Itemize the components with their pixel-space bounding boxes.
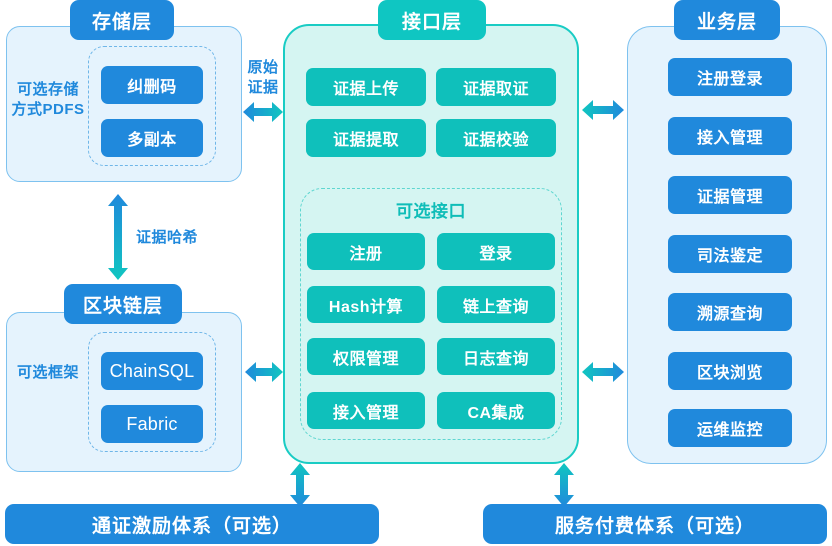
blockchain-item-fabric[interactable]: Fabric <box>101 405 203 443</box>
double-arrow-horizontal-icon-blockchain-interface <box>245 359 283 385</box>
interface-item-evidence-forensics[interactable]: 证据取证 <box>436 68 556 106</box>
bottom-bar-token-incentive[interactable]: 通证激励体系（可选） <box>5 504 379 544</box>
interface-optional-item-access-mgmt[interactable]: 接入管理 <box>307 392 425 429</box>
storage-item-multi-replica[interactable]: 多副本 <box>101 119 203 157</box>
connector-evidence-hash-label: 证据哈希 <box>136 228 246 248</box>
business-item-block-explorer[interactable]: 区块浏览 <box>668 352 792 390</box>
business-item-access-mgmt[interactable]: 接入管理 <box>668 117 792 155</box>
interface-optional-group-title: 可选接口 <box>300 201 562 224</box>
interface-optional-item-onchain-query[interactable]: 链上查询 <box>437 286 555 323</box>
storage-side-caption-line2: 方式PDFS <box>6 100 90 120</box>
interface-layer-title: 接口层 <box>378 0 486 40</box>
interface-optional-item-register[interactable]: 注册 <box>307 233 425 270</box>
blockchain-layer-title: 区块链层 <box>64 284 182 324</box>
interface-optional-item-log-query[interactable]: 日志查询 <box>437 338 555 375</box>
interface-optional-item-hash-compute[interactable]: Hash计算 <box>307 286 425 323</box>
bottom-bar-service-payment[interactable]: 服务付费体系（可选） <box>483 504 827 544</box>
double-arrow-vertical-icon-interface-payment <box>551 463 577 507</box>
business-item-evidence-mgmt[interactable]: 证据管理 <box>668 176 792 214</box>
storage-layer-title: 存储层 <box>70 0 174 40</box>
business-item-ops-monitoring[interactable]: 运维监控 <box>668 409 792 447</box>
interface-item-evidence-upload[interactable]: 证据上传 <box>306 68 426 106</box>
blockchain-item-chainsql[interactable]: ChainSQL <box>101 352 203 390</box>
interface-optional-item-ca-integration[interactable]: CA集成 <box>437 392 555 429</box>
connector-raw-evidence-label-line1: 原始 <box>240 58 286 78</box>
blockchain-side-caption: 可选框架 <box>6 363 90 383</box>
double-arrow-vertical-icon-storage-blockchain <box>105 194 131 280</box>
architecture-diagram: 存储层 可选存储 方式PDFS 纠删码 多副本 区块链层 可选框架 ChainS… <box>0 0 832 546</box>
interface-optional-item-permission-mgmt[interactable]: 权限管理 <box>307 338 425 375</box>
business-item-traceability-query[interactable]: 溯源查询 <box>668 293 792 331</box>
business-layer-title: 业务层 <box>674 0 780 40</box>
business-item-register-login[interactable]: 注册登录 <box>668 58 792 96</box>
double-arrow-vertical-icon-interface-token <box>287 463 313 507</box>
interface-optional-item-login[interactable]: 登录 <box>437 233 555 270</box>
connector-raw-evidence-label-line2: 证据 <box>240 78 286 98</box>
double-arrow-horizontal-icon-interface-business-bottom <box>582 359 624 385</box>
double-arrow-horizontal-icon-interface-business-top <box>582 97 624 123</box>
business-item-judicial-appraisal[interactable]: 司法鉴定 <box>668 235 792 273</box>
interface-item-evidence-verify[interactable]: 证据校验 <box>436 119 556 157</box>
interface-item-evidence-extract[interactable]: 证据提取 <box>306 119 426 157</box>
double-arrow-horizontal-icon-storage-interface <box>243 99 283 125</box>
storage-item-erasure-code[interactable]: 纠删码 <box>101 66 203 104</box>
storage-side-caption-line1: 可选存储 <box>6 80 90 100</box>
